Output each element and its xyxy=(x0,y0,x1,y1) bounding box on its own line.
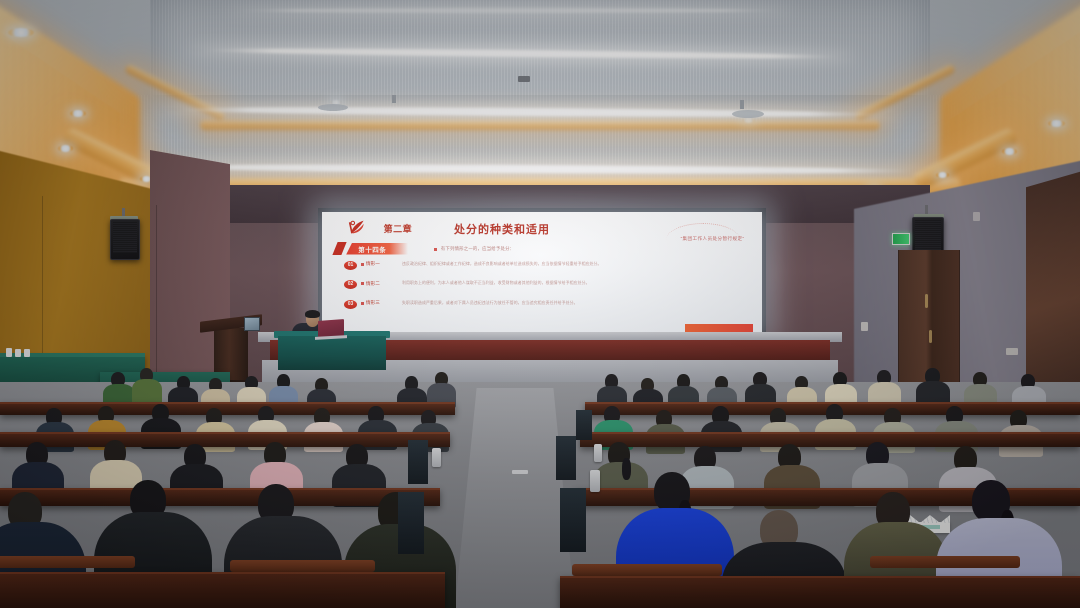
water-cup xyxy=(6,348,12,357)
projector-icon xyxy=(518,76,530,82)
bench-backrest xyxy=(870,556,1020,568)
slide-chapter-label: 第二章 xyxy=(384,222,413,235)
item-body-text: 违反政治纪律、组织纪律或者工作纪律，造成不良影响或者给单位造成损失的，应当依据情… xyxy=(402,261,740,267)
ceiling-light-strip-0 xyxy=(230,8,790,13)
desk-end-panel xyxy=(398,492,424,554)
item-body-text: 利用职务上的便利，为本人或者他人谋取不正当利益，收受财物或者其他利益的，根据情节… xyxy=(402,280,740,286)
bench-backrest xyxy=(572,564,722,576)
wall-seam xyxy=(156,205,157,380)
wall-switch-plate[interactable] xyxy=(1006,348,1018,355)
downlight-icon xyxy=(58,145,73,152)
slide-lead-text: 有下列情形之一的，应当给予处分： xyxy=(441,246,514,252)
bench-backrest xyxy=(0,556,135,568)
bench-backrest xyxy=(230,560,375,572)
ceiling-vent-icon xyxy=(318,104,348,111)
wall-seam xyxy=(42,196,43,376)
item-body-text: 失职渎职造成严重后果，或者对下属人员违纪违法行为放任不管的，应当追究相应责任并给… xyxy=(402,300,740,306)
exit-sign-icon xyxy=(892,233,910,245)
projection-screen-frame: 第二章 处分的种类和适用 “集团工作人员处分暂行规定” 第十四条 有下列情形之一… xyxy=(318,208,766,338)
water-cup xyxy=(15,349,21,357)
wall-switch-plate[interactable] xyxy=(861,322,868,331)
desk-end-panel xyxy=(576,410,592,440)
sprinkler-icon xyxy=(740,100,744,109)
door-handle[interactable] xyxy=(925,294,928,308)
item-number: 02 xyxy=(348,282,354,287)
downlight-icon xyxy=(936,172,949,178)
desk-row-front xyxy=(560,576,1080,608)
projection-screen: 第二章 处分的种类和适用 “集团工作人员处分暂行规定” 第十四条 有下列情形之一… xyxy=(322,212,762,334)
bullet-dot-icon xyxy=(434,248,437,251)
sprinkler-icon xyxy=(392,95,396,103)
ceiling-vent-icon xyxy=(732,110,764,118)
ribbon-label: 第十四条 xyxy=(358,244,386,254)
item-tag: 情形一 xyxy=(361,261,380,267)
item-tag: 情形二 xyxy=(361,281,380,287)
item-number: 01 xyxy=(348,263,354,268)
slide-subtitle: “集团工作人员处分暂行规定” xyxy=(681,236,745,242)
item-number-badge: 03 xyxy=(344,300,357,309)
item-number-badge: 01 xyxy=(344,261,357,270)
conference-hall-photo: 第二章 处分的种类和适用 “集团工作人员处分暂行规定” 第十四条 有下列情形之一… xyxy=(0,0,1080,608)
downlight-icon xyxy=(70,110,86,117)
party-emblem-icon xyxy=(348,219,368,235)
presenter-hair xyxy=(305,310,320,318)
item-number-badge: 02 xyxy=(344,280,357,289)
desk-end-panel xyxy=(560,488,586,552)
lectern-monitor xyxy=(244,317,260,331)
ribbon-tail-decor xyxy=(333,242,347,255)
slide-title: 处分的种类和适用 xyxy=(454,221,550,237)
desk-end-panel xyxy=(408,440,428,484)
slide-article-ribbon: 第十四条 xyxy=(346,243,408,255)
downlight-icon xyxy=(8,28,34,37)
cove-light-inner xyxy=(200,120,880,130)
downlight-icon xyxy=(1002,148,1017,155)
item-tag: 情形三 xyxy=(361,300,380,306)
desk-row-front xyxy=(0,572,445,608)
tag-dot-icon xyxy=(361,263,364,266)
slide-item-03: 03 情形三 失职渎职造成严重后果，或者对下属人员违纪违法行为放任不管的，应当追… xyxy=(344,300,740,327)
tag-dot-icon xyxy=(361,282,364,285)
downlight-icon xyxy=(1048,120,1065,127)
item-number: 03 xyxy=(348,302,354,307)
tag-dot-icon xyxy=(361,302,364,305)
door-handle[interactable] xyxy=(929,330,932,343)
wall-light-icon xyxy=(973,212,980,221)
desk-end-panel xyxy=(556,436,576,480)
wall-speaker-left xyxy=(110,219,140,260)
water-cup xyxy=(24,349,30,357)
downlight-icon xyxy=(742,118,755,123)
